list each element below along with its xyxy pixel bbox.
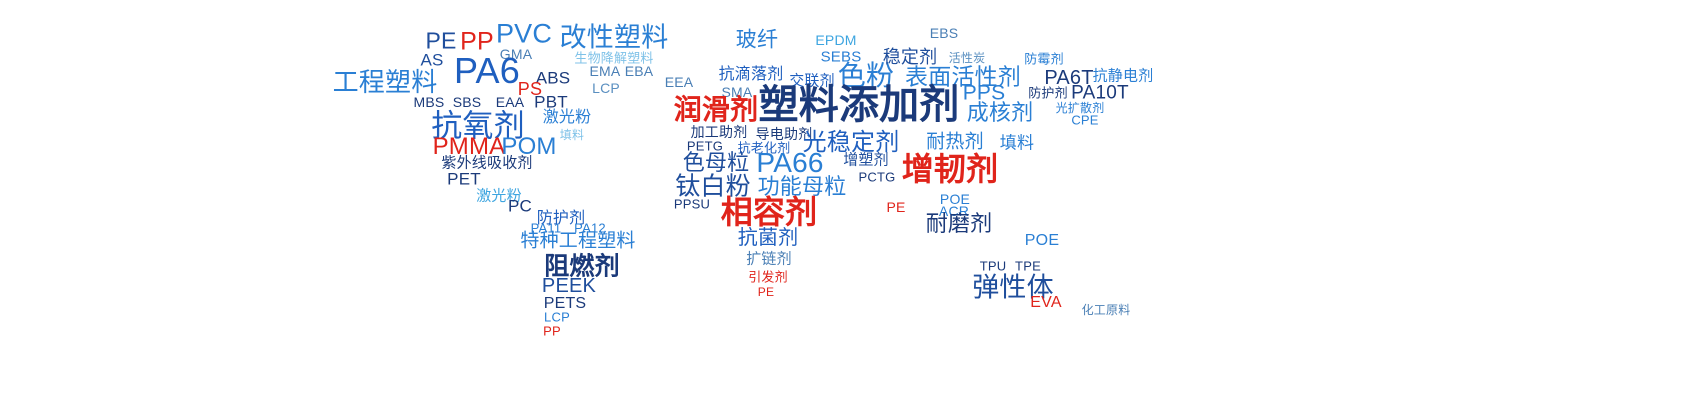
cloud-word[interactable]: PP bbox=[543, 325, 561, 338]
cloud-word[interactable]: LCP bbox=[592, 81, 620, 95]
cloud-word[interactable]: 抗滴落剂 bbox=[719, 67, 784, 83]
cloud-word[interactable]: PC bbox=[508, 198, 532, 215]
cloud-word[interactable]: 抗静电剂 bbox=[1093, 69, 1154, 84]
cloud-word[interactable]: PE bbox=[425, 30, 456, 53]
cloud-word[interactable]: PVC bbox=[496, 21, 552, 48]
cloud-word[interactable]: 填料 bbox=[1000, 135, 1034, 152]
cloud-word[interactable]: EPDM bbox=[815, 33, 856, 47]
cloud-word[interactable]: LCP bbox=[544, 311, 570, 324]
cloud-word[interactable]: 改性塑料 bbox=[560, 25, 669, 52]
cloud-word[interactable]: 耐磨剂 bbox=[926, 213, 993, 235]
cloud-word[interactable]: PE bbox=[758, 286, 774, 298]
cloud-word[interactable]: 填料 bbox=[560, 129, 584, 141]
cloud-word[interactable]: EEA bbox=[665, 75, 694, 89]
cloud-word[interactable]: POE bbox=[1025, 233, 1059, 249]
cloud-word[interactable]: 活性炭 bbox=[949, 52, 986, 64]
cloud-word[interactable]: 增塑剂 bbox=[843, 153, 889, 168]
cloud-word[interactable]: 扩链剂 bbox=[746, 252, 792, 267]
cloud-word[interactable]: 引发剂 bbox=[748, 271, 788, 284]
cloud-word[interactable]: 紫外线吸收剂 bbox=[441, 156, 532, 171]
cloud-word[interactable]: 抗菌剂 bbox=[738, 228, 799, 248]
cloud-word[interactable]: PE bbox=[886, 200, 905, 214]
cloud-word[interactable]: 化工原料 bbox=[1082, 304, 1131, 316]
cloud-word[interactable]: MBS bbox=[414, 95, 445, 109]
cloud-word[interactable]: 色母粒 bbox=[683, 152, 750, 174]
cloud-word[interactable]: PA6 bbox=[454, 53, 520, 89]
cloud-word[interactable]: TPE bbox=[1015, 260, 1041, 273]
cloud-word[interactable]: 耐热剂 bbox=[926, 133, 984, 152]
cloud-word[interactable]: EVA bbox=[1030, 295, 1061, 311]
cloud-word[interactable]: 防霉剂 bbox=[1024, 53, 1064, 66]
cloud-word[interactable]: SBS bbox=[453, 95, 482, 109]
cloud-word[interactable]: PA66 bbox=[756, 149, 823, 177]
cloud-word[interactable]: 润滑剂 bbox=[674, 96, 759, 124]
cloud-word[interactable]: PBT bbox=[534, 94, 568, 111]
cloud-word[interactable]: PA10T bbox=[1071, 84, 1129, 103]
cloud-word[interactable]: AS bbox=[420, 52, 443, 69]
cloud-word[interactable]: 增韧剂 bbox=[902, 153, 999, 185]
cloud-word[interactable]: 工程塑料 bbox=[333, 69, 438, 95]
cloud-word[interactable]: 成核剂 bbox=[967, 102, 1034, 124]
cloud-word[interactable]: 防护剂 bbox=[1028, 87, 1068, 100]
cloud-word[interactable]: EMA bbox=[590, 64, 621, 78]
cloud-word[interactable]: CPE bbox=[1071, 114, 1098, 127]
cloud-word[interactable]: 加工助剂 bbox=[691, 125, 748, 139]
cloud-word[interactable]: 塑料添加剂 bbox=[759, 85, 960, 125]
cloud-word[interactable]: SEBS bbox=[821, 50, 862, 65]
cloud-word[interactable]: PET bbox=[447, 171, 481, 188]
cloud-word[interactable]: 相容剂 bbox=[721, 196, 818, 228]
cloud-word[interactable]: PPSU bbox=[674, 198, 710, 211]
cloud-word[interactable]: 激光粉 bbox=[543, 110, 592, 126]
cloud-word[interactable]: TPU bbox=[980, 260, 1007, 273]
word-cloud-canvas: PEPPPVCGMA改性塑料生物降解塑料玻纤EPDMEBSASPA6工程塑料AB… bbox=[0, 0, 1707, 400]
cloud-word[interactable]: EBS bbox=[930, 26, 959, 40]
cloud-word[interactable]: 玻纤 bbox=[736, 30, 778, 51]
cloud-word[interactable]: PCTG bbox=[859, 171, 896, 184]
cloud-word[interactable]: EBA bbox=[625, 64, 654, 78]
cloud-word[interactable]: 特种工程塑料 bbox=[520, 232, 635, 251]
cloud-word[interactable]: PEEK bbox=[542, 276, 596, 296]
